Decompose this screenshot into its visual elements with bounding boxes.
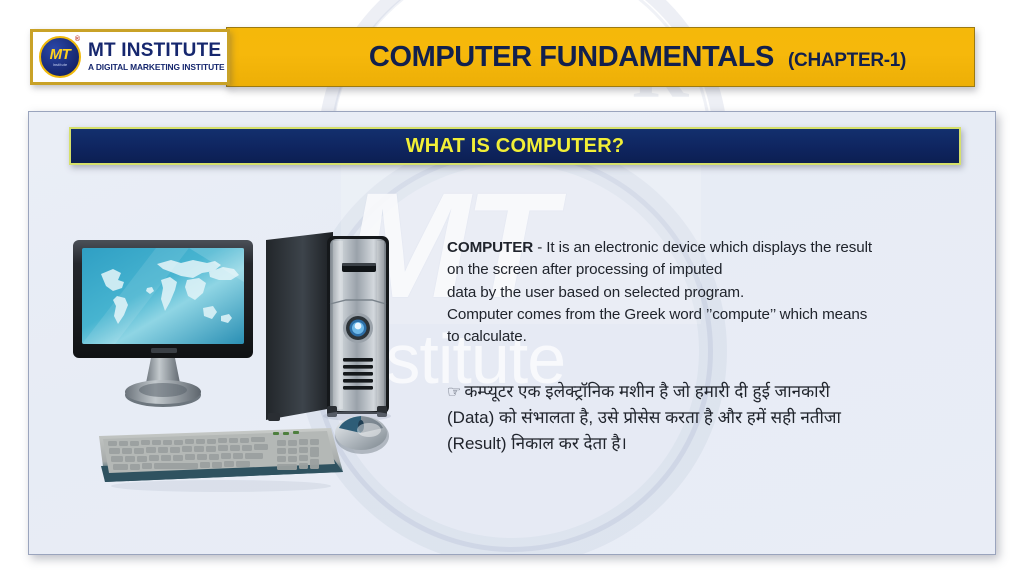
hindi-line-1: कम्प्यूटर एक इलेक्ट्रॉनिक मशीन है जो हमा… <box>464 382 830 401</box>
logo-subtitle: A DIGITAL MARKETING INSTITUTE <box>88 62 225 72</box>
slide-root: R COMPUTER FUNDAMENTALS (CHAPTER-1) MT I… <box>0 0 1024 576</box>
hindi-line-1-row: ☞कम्प्यूटर एक इलेक्ट्रॉनिक मशीन है जो हम… <box>447 379 987 405</box>
english-definition-paragraph: COMPUTER - It is an electronic device wh… <box>447 237 987 349</box>
content-panel: MT Institute WHAT IS COMPUTER? <box>28 111 996 555</box>
hindi-line-3: (Result) निकाल कर देता है। <box>447 431 987 457</box>
slide-header: COMPUTER FUNDAMENTALS (CHAPTER-1) MT Ins… <box>0 0 1024 118</box>
english-line-2: on the screen after processing of impute… <box>447 261 722 278</box>
logo-title: MT INSTITUTE <box>88 41 225 61</box>
logo-badge-subtext: Institute <box>53 63 68 67</box>
section-title-bar: WHAT IS COMPUTER? <box>69 127 961 165</box>
page-title: COMPUTER FUNDAMENTALS <box>369 41 774 74</box>
pointing-hand-icon: ☞ <box>447 384 461 401</box>
logo-badge-text: MT <box>50 47 71 62</box>
english-line-5: to calculate. <box>447 328 527 345</box>
english-line-3: data by the user based on selected progr… <box>447 284 744 301</box>
hindi-definition-paragraph: ☞कम्प्यूटर एक इलेक्ट्रॉनिक मशीन है जो हम… <box>447 379 987 457</box>
section-title: WHAT IS COMPUTER? <box>406 135 625 158</box>
body-text-column: COMPUTER - It is an electronic device wh… <box>447 237 987 457</box>
brand-logo[interactable]: MT Institute ® MT INSTITUTE A DIGITAL MA… <box>30 29 230 85</box>
registered-mark-icon: ® <box>75 36 80 43</box>
computer-lead-word: COMPUTER <box>447 239 533 256</box>
header-title-bar: COMPUTER FUNDAMENTALS (CHAPTER-1) <box>226 27 975 87</box>
english-line-4: Computer comes from the Greek word ’’com… <box>447 306 867 323</box>
mt-logo-icon: MT Institute ® <box>39 36 81 78</box>
hindi-line-2: (Data) को संभालता है, उसे प्रोसेस करता ह… <box>447 405 987 431</box>
logo-text-block: MT INSTITUTE A DIGITAL MARKETING INSTITU… <box>88 41 225 72</box>
chapter-label: (CHAPTER-1) <box>788 50 906 72</box>
desktop-computer-illustration <box>61 230 461 510</box>
english-line-1: - It is an electronic device which displ… <box>533 239 872 256</box>
